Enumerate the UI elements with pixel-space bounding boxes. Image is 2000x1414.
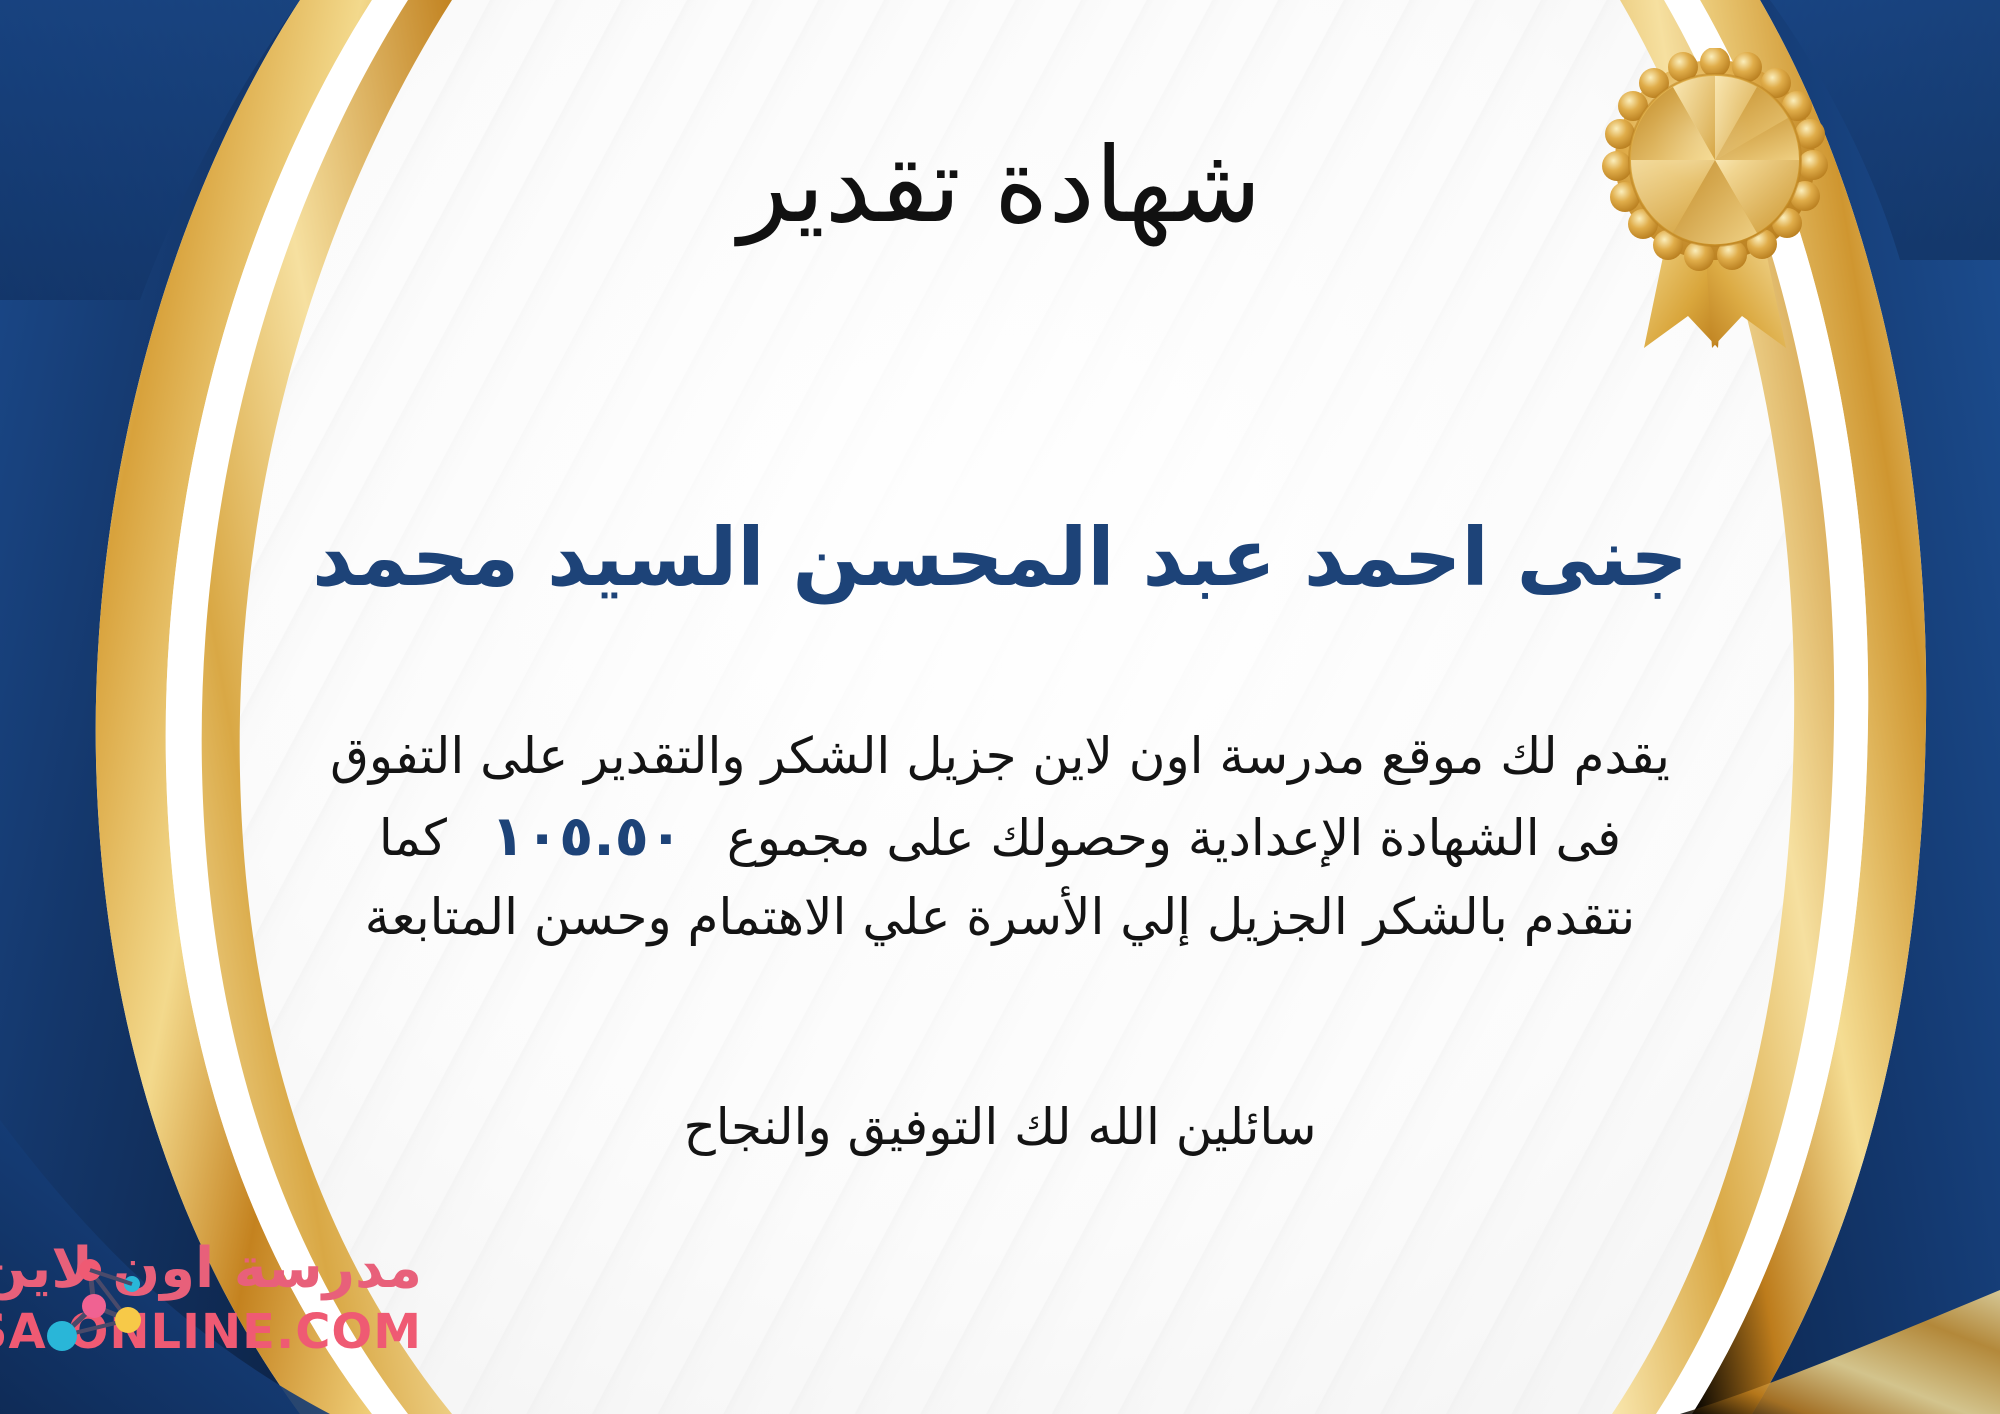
site-logo[interactable]: مدرسة اون لاين MADRSA-ONLINE.COM [22,1236,492,1386]
student-name: جنى احمد عبد المحسن السيد محمد [0,512,2000,604]
body-text: يقدم لك موقع مدرسة اون لاين جزيل الشكر و… [60,718,1940,955]
network-nodes-icon [32,1250,152,1370]
body-line-1: يقدم لك موقع مدرسة اون لاين جزيل الشكر و… [60,718,1940,794]
certificate-content: شهادة تقدير جنى احمد عبد المحسن السيد مح… [0,0,2000,1414]
body-line-2-suffix: كما [379,809,447,867]
body-line-2: فى الشهادة الإعدادية وحصولك على مجموع ١٠… [60,794,1940,879]
grade-value: ١٠٥.٥٠ [463,804,711,869]
body-line-2-prefix: فى الشهادة الإعدادية وحصولك على مجموع [727,809,1621,867]
body-line-3: نتقدم بالشكر الجزيل إلي الأسرة علي الاهت… [60,879,1940,955]
certificate-page: شهادة تقدير جنى احمد عبد المحسن السيد مح… [0,0,2000,1414]
page-title: شهادة تقدير [0,128,2000,242]
closing-line: سائلين الله لك التوفيق والنجاح [0,1098,2000,1156]
